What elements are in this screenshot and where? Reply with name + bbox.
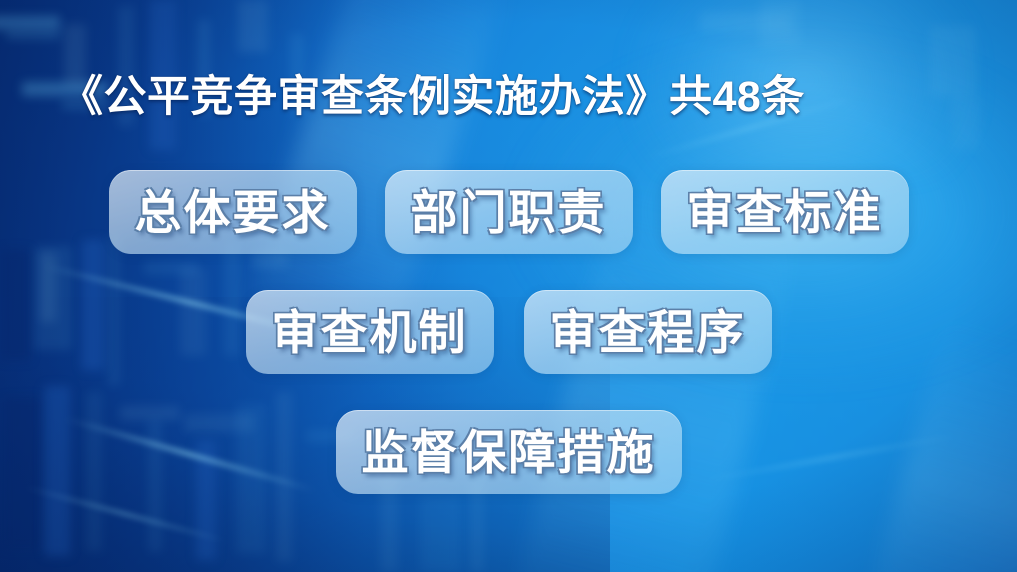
pill-label: 审查标准 — [687, 189, 883, 236]
pill-label: 审查程序 — [550, 309, 746, 356]
pill-row-1: 总体要求 部门职责 审查标准 — [0, 170, 1017, 254]
pill-row-2: 审查机制 审查程序 — [0, 290, 1017, 374]
pill-label: 审查机制 — [272, 309, 468, 356]
pill-review-mechanism[interactable]: 审查机制 — [246, 290, 494, 374]
pill-department-duties[interactable]: 部门职责 — [385, 170, 633, 254]
pill-label: 总体要求 — [135, 189, 331, 236]
pill-row-3: 监督保障措施 — [0, 410, 1017, 494]
pill-supervision-measures[interactable]: 监督保障措施 — [336, 410, 682, 494]
pill-review-procedure[interactable]: 审查程序 — [524, 290, 772, 374]
pill-label: 部门职责 — [411, 189, 607, 236]
pill-overall-requirements[interactable]: 总体要求 — [109, 170, 357, 254]
pill-review-standards[interactable]: 审查标准 — [661, 170, 909, 254]
page-title: 《公平竞争审查条例实施办法》共48条 — [60, 62, 805, 124]
slide-canvas: 《公平竞争审查条例实施办法》共48条 总体要求 部门职责 审查标准 审查机制 审… — [0, 0, 1017, 572]
pill-label: 监督保障措施 — [362, 429, 656, 476]
